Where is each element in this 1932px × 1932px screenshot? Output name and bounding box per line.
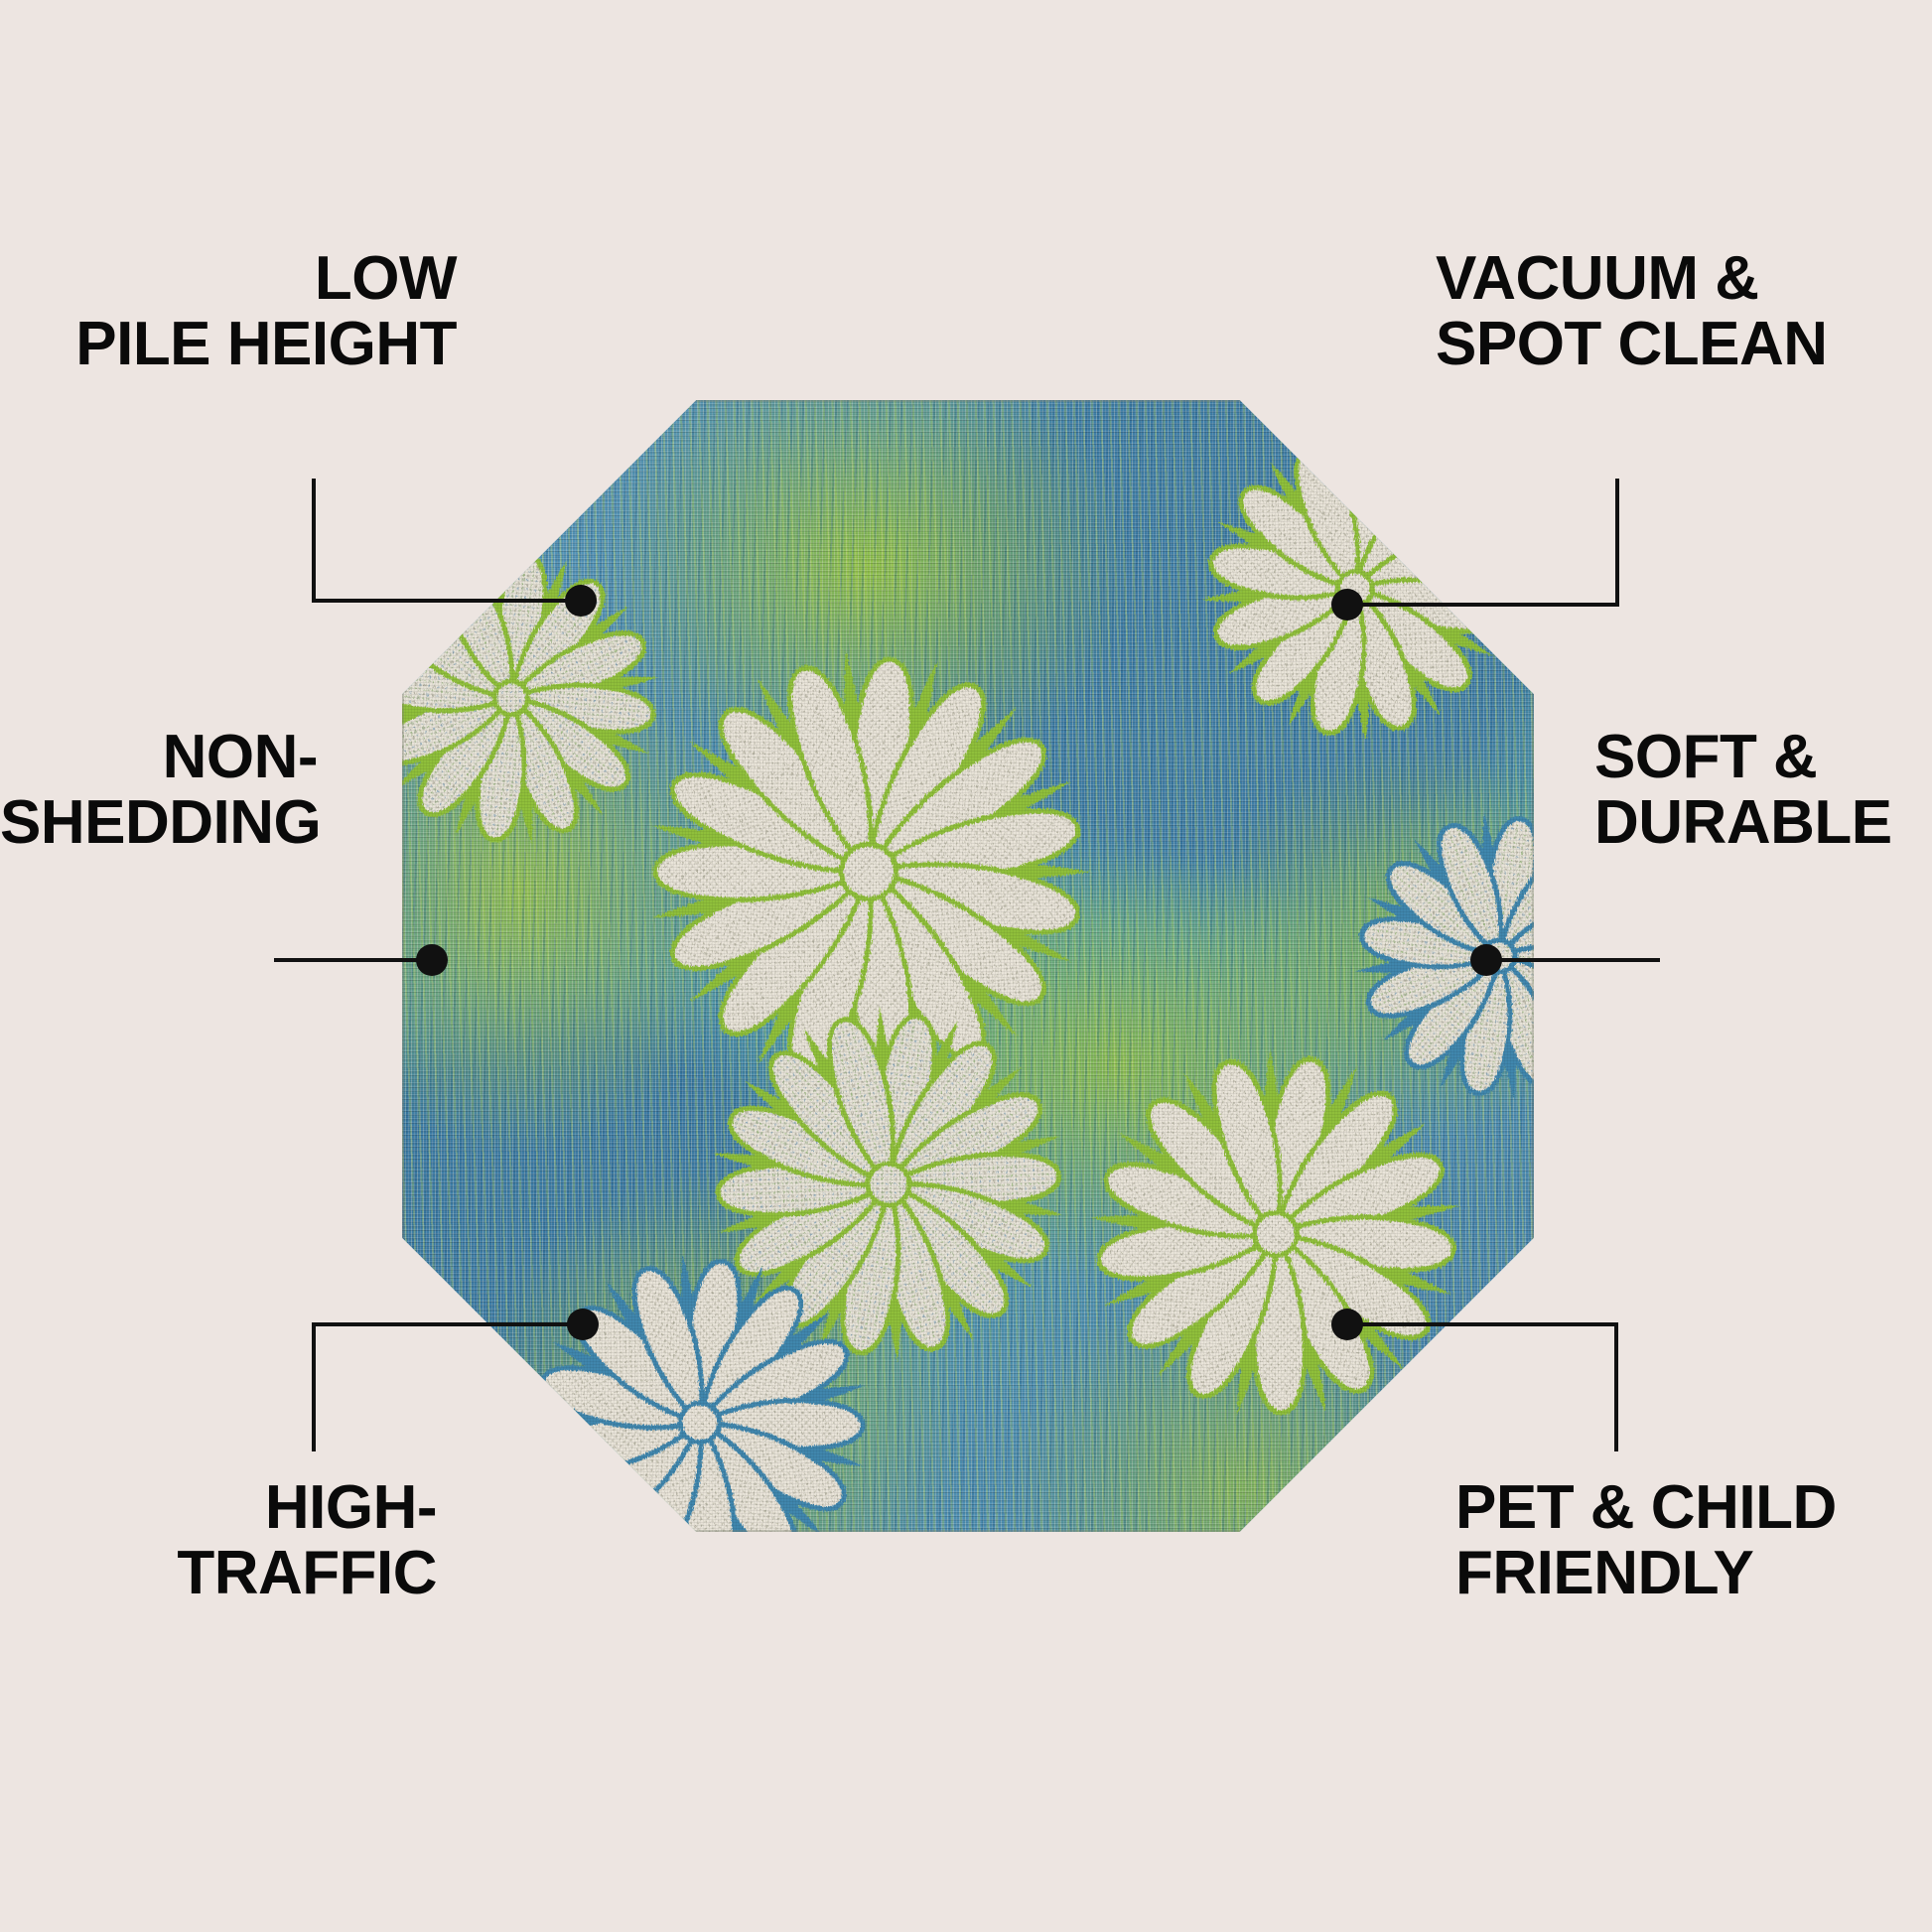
rug-weave-overlay xyxy=(402,400,1534,1532)
callout-label-soft-durable: SOFT & DURABLE xyxy=(1594,725,1932,855)
callout-label-vacuum-spot-clean: VACUUM & SPOT CLEAN xyxy=(1436,246,1892,376)
product-rug-image xyxy=(402,400,1534,1532)
callout-label-high-traffic: HIGH- TRAFFIC xyxy=(40,1475,437,1605)
callout-label-non-shedding: NON- SHEDDING xyxy=(0,725,318,855)
callout-label-low-pile-height: LOW PILE HEIGHT xyxy=(40,246,457,376)
callout-label-pet-child-friendly: PET & CHILD FRIENDLY xyxy=(1455,1475,1912,1605)
infographic-stage: LOW PILE HEIGHT VACUUM & SPOT CLEAN NON-… xyxy=(0,0,1932,1932)
rug-octagon xyxy=(402,400,1534,1532)
